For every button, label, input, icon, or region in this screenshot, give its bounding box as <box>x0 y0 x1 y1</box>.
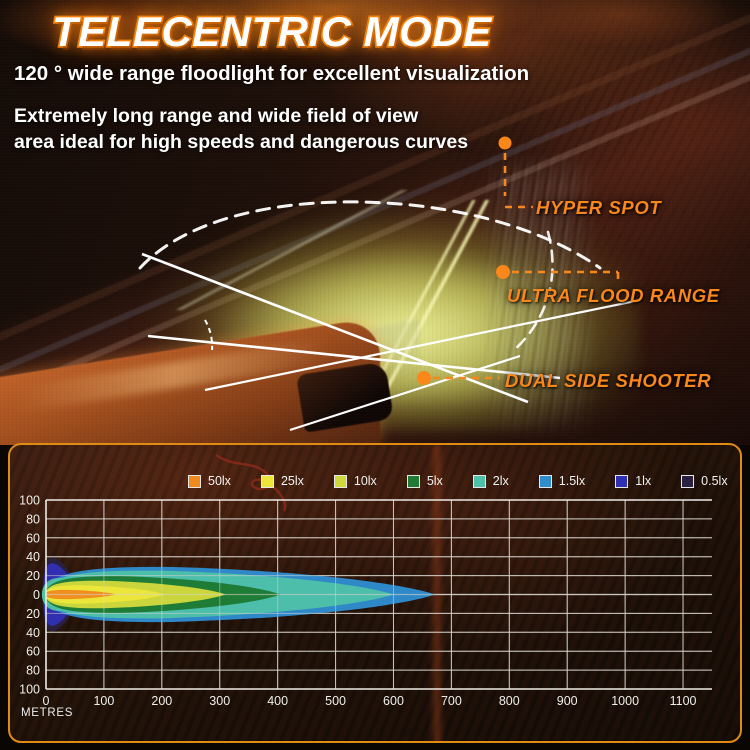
callout-hyper-spot: HYPER SPOT <box>536 197 661 219</box>
description-text: Extremely long range and wide field of v… <box>14 103 468 155</box>
y-tick-80-9: 80 <box>26 664 40 678</box>
angle-arc-marker <box>205 320 212 350</box>
y-tick-40-7: 40 <box>26 626 40 640</box>
x-tick-900: 900 <box>557 694 578 708</box>
y-tick-0-5: 0 <box>33 588 40 602</box>
x-tick-1100: 1100 <box>670 694 697 708</box>
y-tick-100-0: 100 <box>19 494 40 508</box>
hyper-spot-marker-dot <box>499 137 512 150</box>
dual-side-marker-dot <box>417 371 431 385</box>
ultra-flood-marker-dot <box>496 265 510 279</box>
axis-unit-label: METRES <box>21 707 73 719</box>
description-line-2: area ideal for high speeds and dangerous… <box>14 129 468 155</box>
x-tick-600: 600 <box>383 694 404 708</box>
x-tick-200: 200 <box>151 694 172 708</box>
chart-x-tick-labels: 010020030040050060070080090010001100 <box>43 694 697 708</box>
flood-envelope-arc <box>140 202 600 268</box>
callout-dual-side-shooter: DUAL SIDE SHOOTER <box>505 370 711 392</box>
chart-gridlines-overlay <box>46 500 712 689</box>
description-line-1: Extremely long range and wide field of v… <box>14 103 468 129</box>
y-tick-40-3: 40 <box>26 550 40 564</box>
callout-ultra-flood-range: ULTRA FLOOD RANGE <box>507 285 720 307</box>
x-tick-500: 500 <box>325 694 346 708</box>
beam-angle-line-left <box>142 254 528 402</box>
x-tick-300: 300 <box>209 694 230 708</box>
y-tick-20-6: 20 <box>26 607 40 621</box>
x-tick-100: 100 <box>93 694 114 708</box>
x-tick-700: 700 <box>441 694 462 708</box>
y-tick-60-2: 60 <box>26 531 40 545</box>
chart-y-tick-labels: 10080604020020406080100 <box>19 494 40 697</box>
beam-pattern-chart: 010020030040050060070080090010001100 100… <box>0 443 750 743</box>
telecentric-mode-infographic: TELECENTRIC MODE 120 ° wide range floodl… <box>0 0 750 750</box>
beam-angle-line-far <box>290 356 520 430</box>
subtitle: 120 ° wide range floodlight for excellen… <box>14 62 529 86</box>
page-title: TELECENTRIC MODE <box>52 8 492 56</box>
x-tick-400: 400 <box>267 694 288 708</box>
x-tick-800: 800 <box>499 694 520 708</box>
night-road-photo: TELECENTRIC MODE 120 ° wide range floodl… <box>0 0 750 445</box>
y-tick-60-8: 60 <box>26 645 40 659</box>
x-tick-1000: 1000 <box>611 694 639 708</box>
y-tick-100-10: 100 <box>19 683 40 697</box>
y-tick-80-1: 80 <box>26 512 40 526</box>
y-tick-20-4: 20 <box>26 569 40 583</box>
beam-angle-line-lower <box>148 336 560 378</box>
x-tick-0: 0 <box>43 694 50 708</box>
